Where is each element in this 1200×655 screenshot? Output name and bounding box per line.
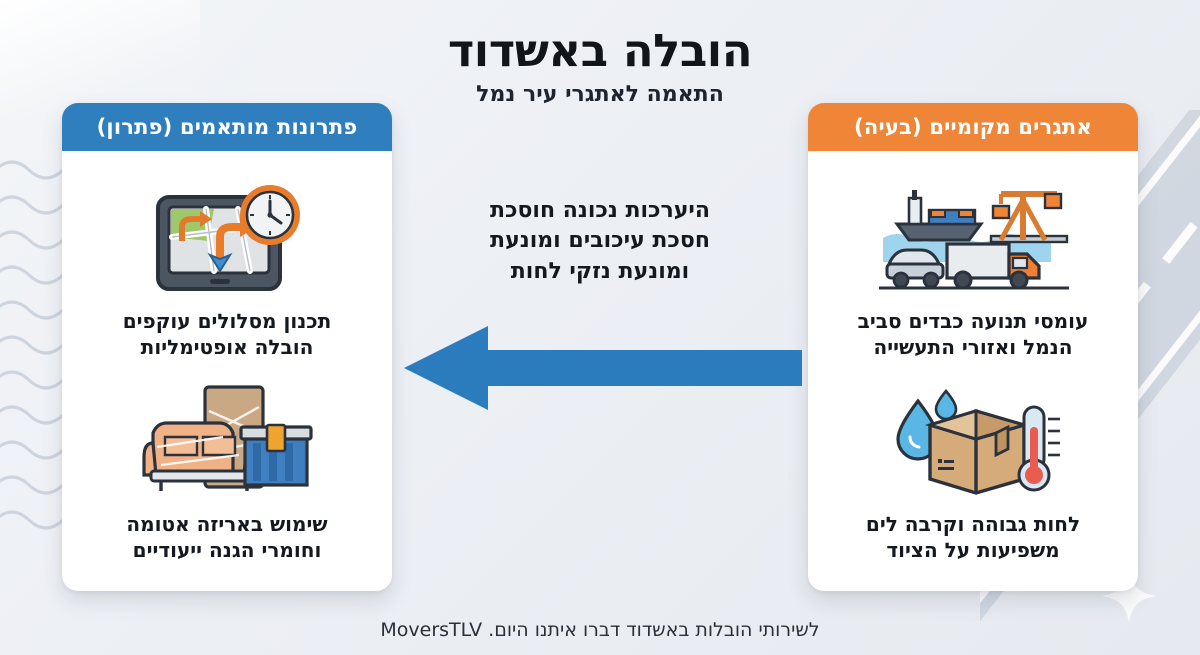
solutions-card-header: פתרונות מותאמים (פתרון) [62, 103, 392, 151]
wrapped-furniture-crate-icon [127, 377, 327, 505]
page-title: הובלה באשדוד [0, 26, 1200, 76]
title-block: הובלה באשדוד התאמה לאתגרי עיר נמל [0, 26, 1200, 108]
challenges-card-header: אתגרים מקומיים (בעיה) [808, 103, 1138, 151]
center-message-line-1: היערכות נכונה חוסכת [398, 196, 802, 226]
solutions-card-body: תכנון מסלולים עוקפים הובלה אופטימליות [62, 151, 392, 591]
solution-item-routing-line-2: הובלה אופטימליות [123, 334, 332, 360]
center-message: היערכות נכונה חוסכת חסכת עיכובים ומונעת … [398, 196, 802, 287]
challenges-card: אתגרים מקומיים (בעיה) [808, 103, 1138, 591]
solution-item-routing-line-1: תכנון מסלולים עוקפים [123, 308, 332, 334]
solution-item-routing-text: תכנון מסלולים עוקפים הובלה אופטימליות [123, 308, 332, 360]
center-message-line-2: חסכת עיכובים ומונעת [398, 226, 802, 256]
challenge-item-humidity: לחות גבוהה וקרבה לים משפיעות על הציוד [824, 377, 1122, 563]
center-message-line-3: ומונעת נזקי לחות [398, 257, 802, 287]
wave-lines-decoration [0, 150, 70, 550]
solutions-card: פתרונות מותאמים (פתרון) [62, 103, 392, 591]
challenge-item-traffic-line-1: עומסי תנועה כבדים סביב [858, 308, 1089, 334]
solution-item-routing: תכנון מסלולים עוקפים הובלה אופטימליות [78, 174, 376, 360]
solution-item-packaging: שימוש באריזה אטומה וחומרי הגנה ייעודיים [78, 377, 376, 563]
solution-item-packaging-text: שימוש באריזה אטומה וחומרי הגנה ייעודיים [126, 511, 327, 563]
footer-cta: לשירותי הובלות באשדוד דברו איתנו היום. M… [0, 619, 1200, 641]
challenge-item-traffic-text: עומסי תנועה כבדים סביב הנמל ואזורי התעשי… [858, 308, 1089, 360]
challenge-item-humidity-text: לחות גבוהה וקרבה לים משפיעות על הציוד [866, 511, 1080, 563]
solution-item-packaging-line-2: וחומרי הגנה ייעודיים [126, 537, 327, 563]
challenge-item-traffic-line-2: הנמל ואזורי התעשייה [858, 334, 1089, 360]
humidity-box-thermometer-icon [878, 377, 1068, 505]
challenges-card-body: עומסי תנועה כבדים סביב הנמל ואזורי התעשי… [808, 151, 1138, 591]
challenge-item-traffic: עומסי תנועה כבדים סביב הנמל ואזורי התעשי… [824, 174, 1122, 360]
flow-arrow [398, 318, 802, 418]
infographic-canvas: הובלה באשדוד התאמה לאתגרי עיר נמל פתרונו… [0, 0, 1200, 655]
gps-navigation-clock-icon [142, 174, 312, 302]
challenge-item-humidity-line-2: משפיעות על הציוד [866, 537, 1080, 563]
port-crane-ship-truck-icon [873, 174, 1073, 302]
solutions-card-header-label: פתרונות מותאמים (פתרון) [97, 115, 358, 139]
solution-item-packaging-line-1: שימוש באריזה אטומה [126, 511, 327, 537]
challenge-item-humidity-line-1: לחות גבוהה וקרבה לים [866, 511, 1080, 537]
challenges-card-header-label: אתגרים מקומיים (בעיה) [854, 115, 1092, 139]
